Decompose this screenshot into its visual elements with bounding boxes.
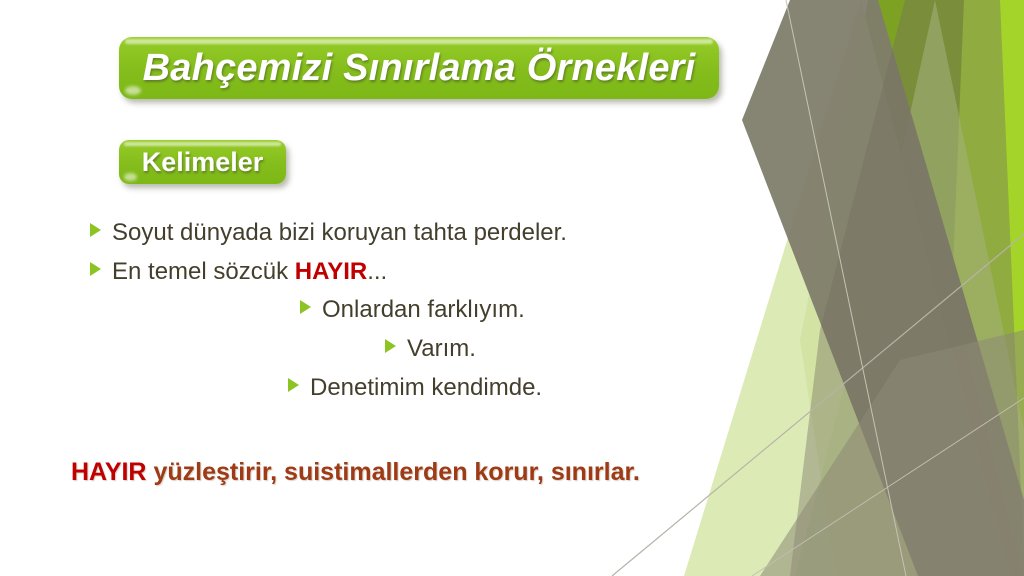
- decor-shape-warmgray-overlay: [760, 330, 1024, 576]
- decor-shape-gray-band: [742, 0, 1024, 576]
- triangle-bullet-icon: [90, 223, 101, 237]
- decor-hairline-cross: [752, 398, 1024, 576]
- bullet-list-item: Onlardan farklıyım.: [0, 295, 760, 326]
- footer-emphasis-word: HAYIR: [71, 458, 147, 486]
- bullet-text-leading: En temel sözcük: [112, 258, 295, 285]
- bullet-list-item: Denetimim kendimde.: [0, 373, 760, 404]
- triangle-bullet-icon: [300, 300, 311, 314]
- bullet-list-item-label: Varım.: [407, 334, 476, 365]
- slide-subtitle-banner: Kelimeler: [119, 140, 286, 184]
- decor-hairline-short: [786, 0, 906, 576]
- bullet-text-leading: Varım.: [407, 335, 476, 362]
- bullet-list-item-label: Denetimim kendimde.: [310, 373, 542, 404]
- slide-title-banner: Bahçemizi Sınırlama Örnekleri: [119, 37, 719, 99]
- triangle-bullet-icon: [385, 339, 396, 353]
- bullet-text-leading: Denetimim kendimde.: [310, 374, 542, 401]
- decor-shape-green-dark-wedge: [800, 0, 1024, 576]
- bullet-emphasis-word: HAYIR: [295, 258, 367, 285]
- bullet-list-item-label: Onlardan farklıyım.: [322, 295, 525, 326]
- slide-title: Bahçemizi Sınırlama Örnekleri: [143, 47, 696, 90]
- bullet-text-leading: Onlardan farklıyım.: [322, 296, 525, 323]
- bullet-list-item-label: En temel sözcük HAYIR...: [112, 257, 387, 288]
- bullet-text-leading: Soyut dünyada bizi koruyan tahta perdele…: [112, 219, 567, 246]
- bullet-list-item: Varım.: [0, 334, 760, 365]
- presentation-slide: Bahçemizi Sınırlama Örnekleri Kelimeler …: [0, 0, 1024, 576]
- slide-subtitle: Kelimeler: [142, 147, 264, 178]
- slide-body-list: Soyut dünyada bizi koruyan tahta perdele…: [0, 218, 760, 412]
- decor-shape-green-bright-right: [856, 0, 1024, 576]
- triangle-bullet-icon: [288, 378, 299, 392]
- triangle-bullet-icon: [90, 262, 101, 276]
- decor-shape-gray-wedge: [790, 0, 1024, 576]
- bullet-list-item: En temel sözcük HAYIR...: [0, 257, 760, 288]
- slide-footer-statement: HAYIR yüzleştirir, suistimallerden korur…: [71, 458, 640, 487]
- footer-statement-text: yüzleştirir, suistimallerden korur, sını…: [147, 458, 640, 486]
- bullet-list-item-label: Soyut dünyada bizi koruyan tahta perdele…: [112, 218, 567, 249]
- bullet-text-trailing: ...: [367, 258, 387, 285]
- decor-shape-green-pale-overlay: [795, 0, 1024, 576]
- bullet-list-item: Soyut dünyada bizi koruyan tahta perdele…: [0, 218, 760, 249]
